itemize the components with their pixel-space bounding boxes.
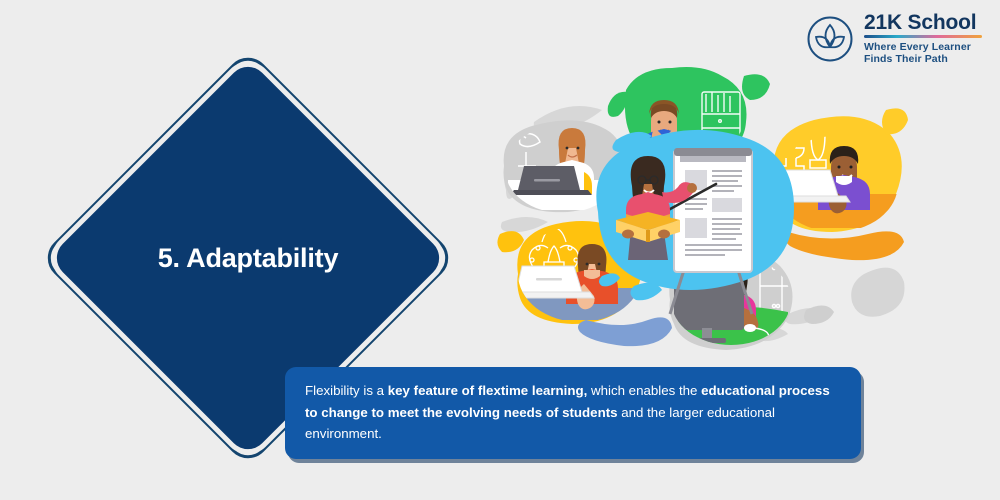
brand-tagline: Where Every Learner Finds Their Path: [864, 41, 982, 67]
lotus-circle-icon: [806, 15, 854, 63]
brand-gradient-rule: [864, 35, 982, 38]
caption-seg-1: key feature of flextime learning,: [388, 383, 588, 398]
brand-tagline-line2: Finds Their Path: [864, 53, 948, 65]
brand-text-block: 21K School Where Every Learner Finds The…: [864, 12, 982, 66]
brand-logo[interactable]: 21K School Where Every Learner Finds The…: [806, 12, 982, 66]
caption-seg-2: which enables the: [587, 383, 701, 398]
online-classroom-illustration: [488, 62, 908, 362]
brand-tagline-line1: Where Every Learner: [864, 41, 971, 53]
caption-box: Flexibility is a key feature of flextime…: [285, 367, 861, 459]
slide-canvas: 5. Adaptability Flexibility is a key fea…: [0, 0, 1000, 500]
brand-name: 21K School: [864, 12, 982, 33]
caption-seg-0: Flexibility is a: [305, 383, 388, 398]
